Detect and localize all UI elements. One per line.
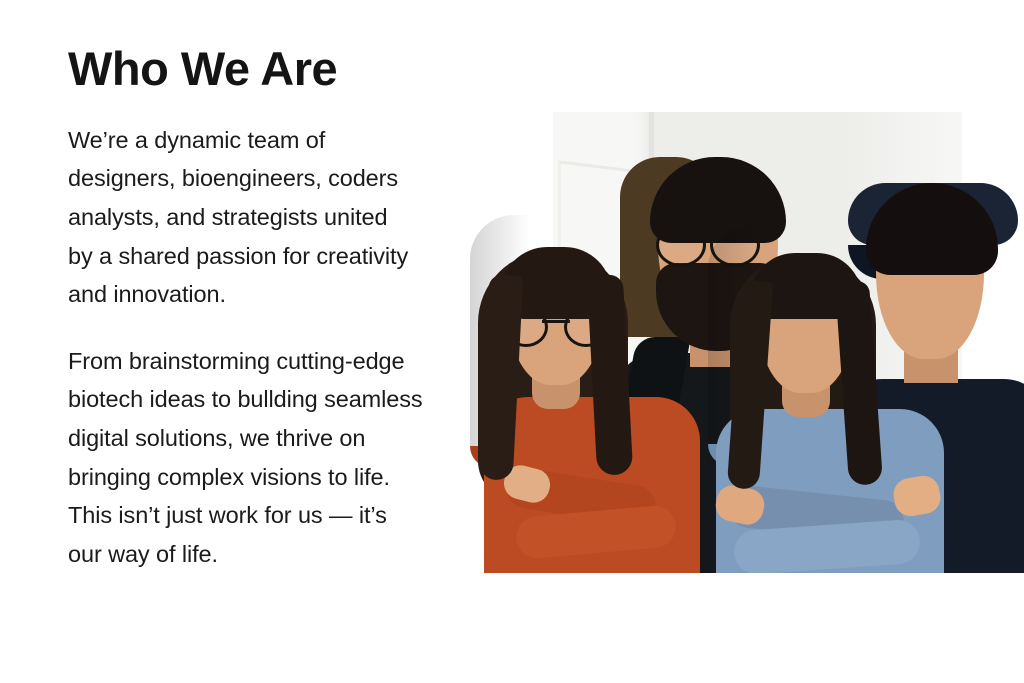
page-title: Who We Are [68, 44, 498, 95]
about-paragraph-2: From brainstorming cutting-edge biotech … [68, 342, 498, 574]
photo-bottom-crop [470, 573, 1024, 628]
person-woman-blue [708, 225, 948, 628]
about-section: Who We Are We’re a dynamic team of desig… [0, 0, 1024, 683]
about-paragraph-1: We’re a dynamic team of designers, bioen… [68, 121, 498, 314]
person-woman-orange [470, 215, 700, 628]
text-column: Who We Are We’re a dynamic team of desig… [68, 44, 498, 573]
team-photo [470, 95, 1024, 628]
